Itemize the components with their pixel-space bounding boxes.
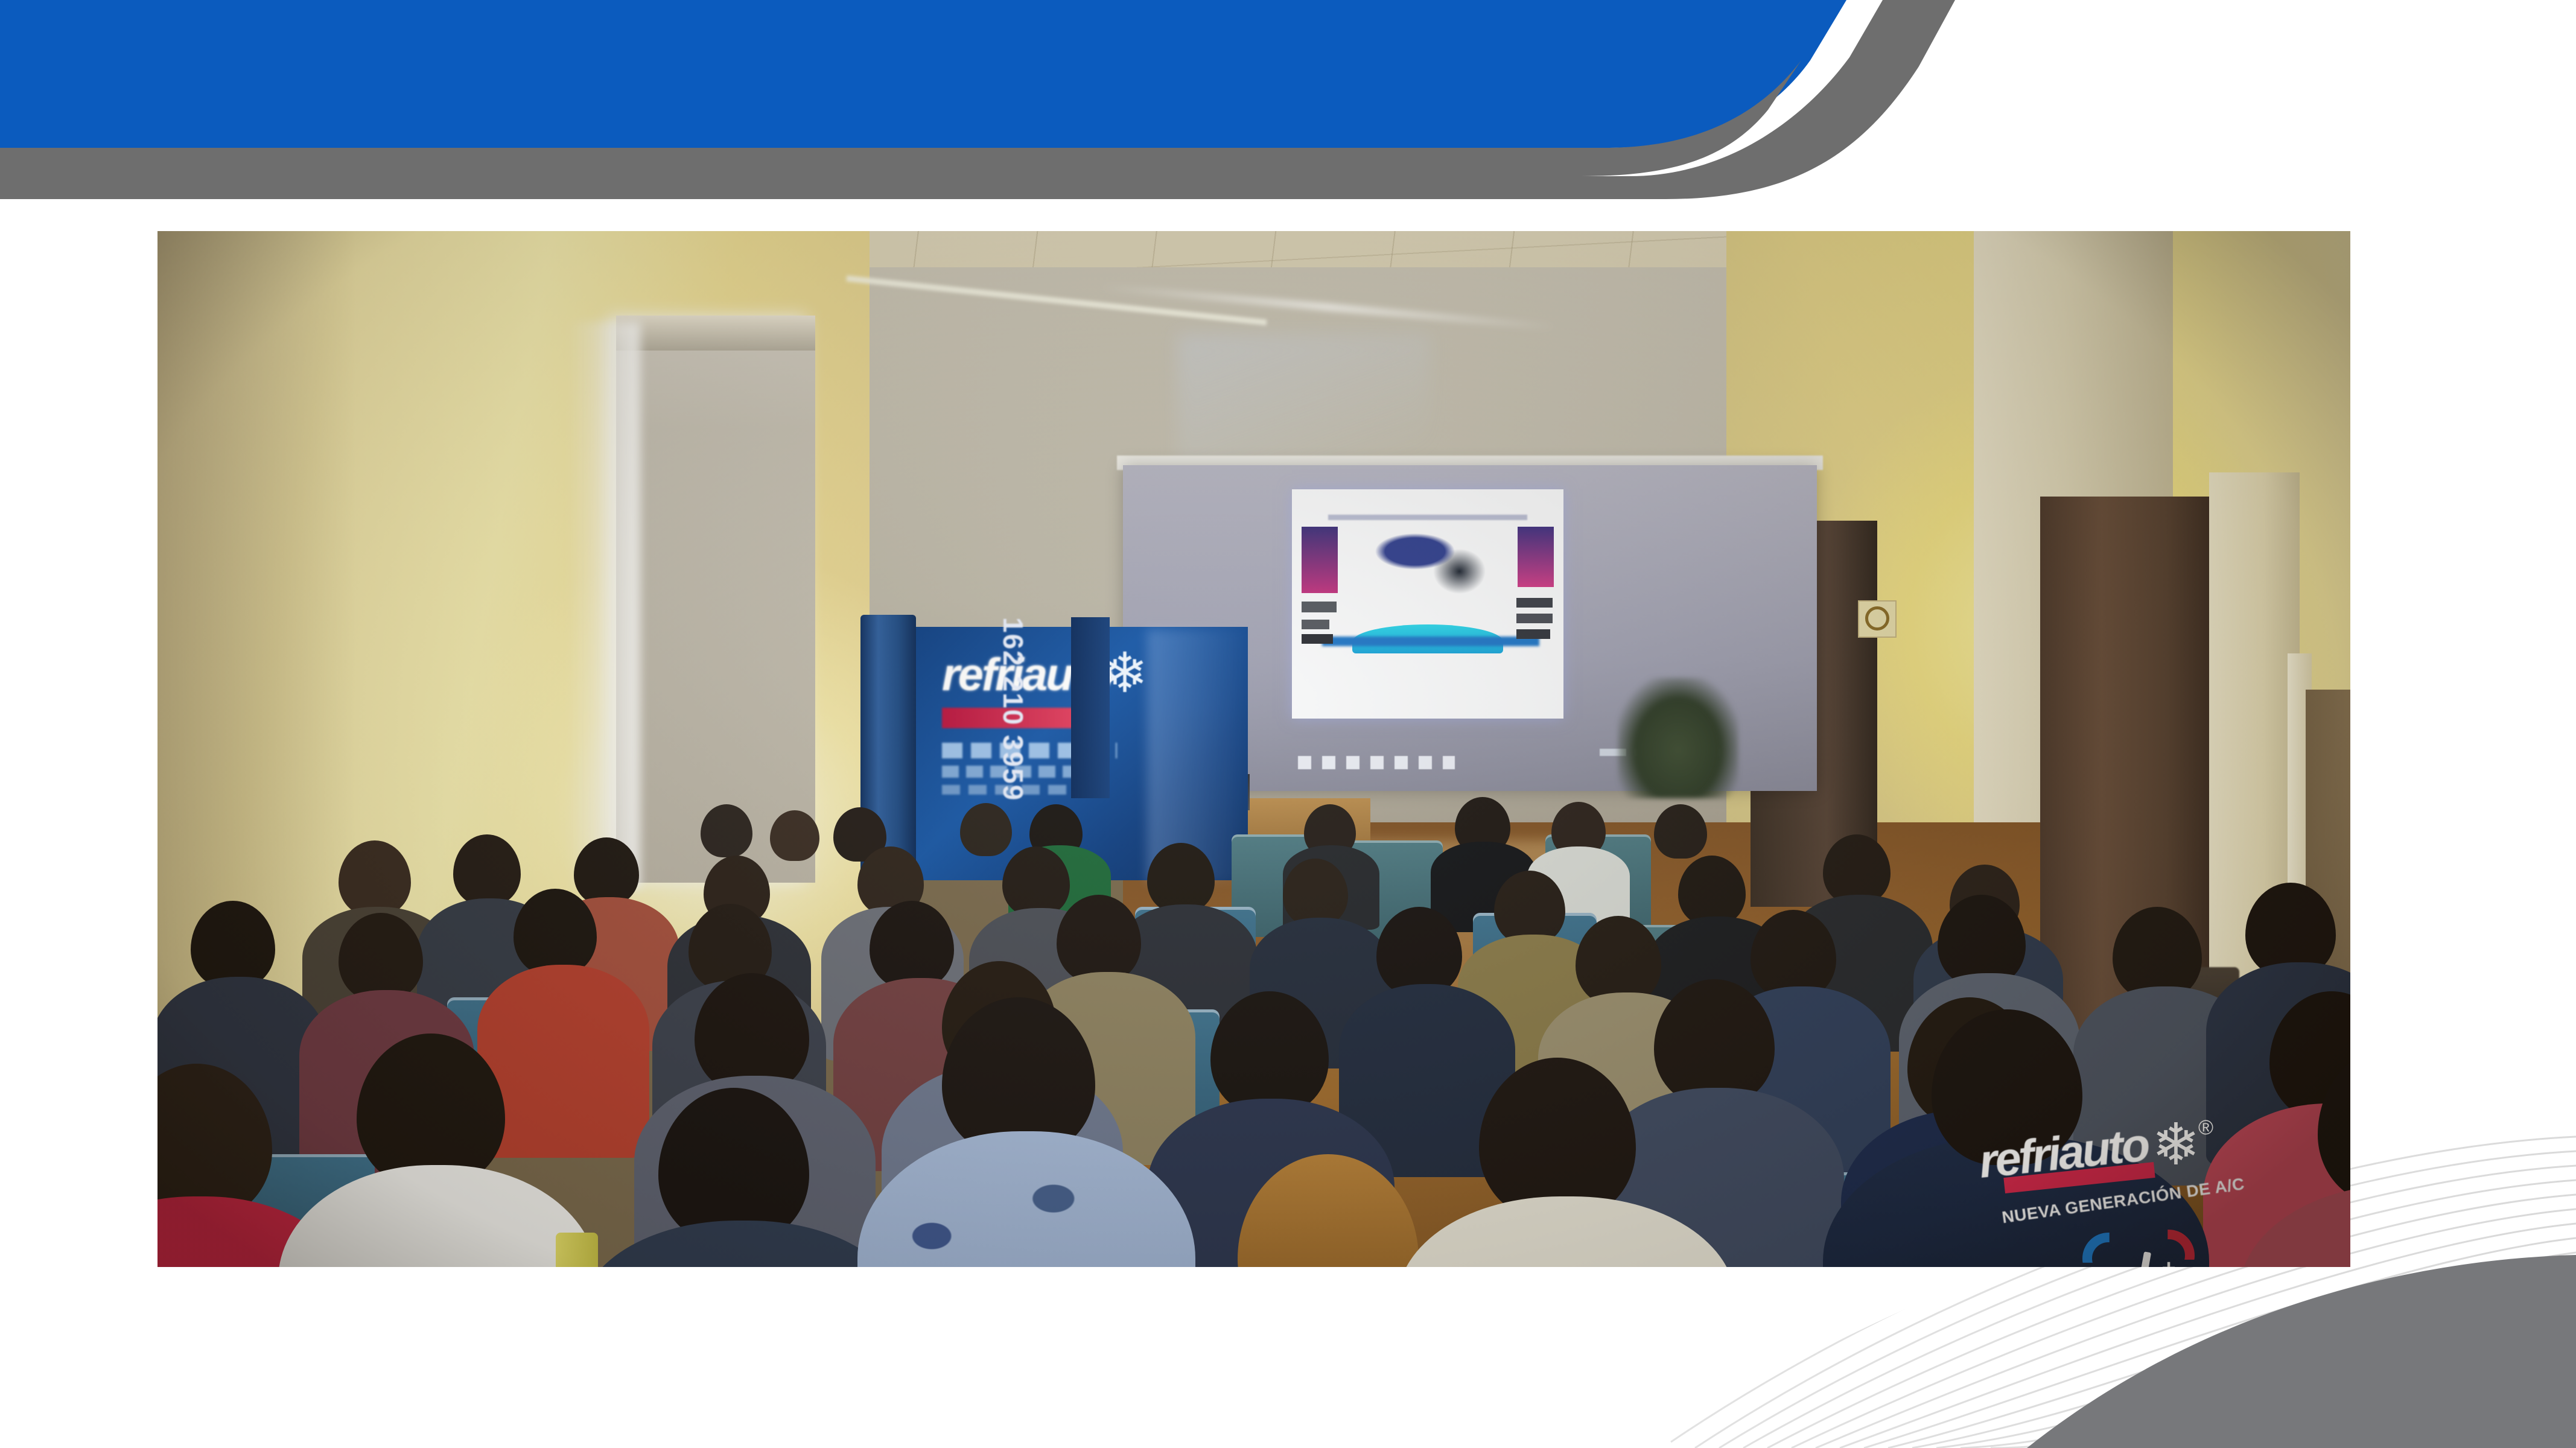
- window-light-glow: [568, 322, 640, 889]
- water-bottle: [556, 1233, 598, 1267]
- attendee-head: [1654, 804, 1707, 859]
- projected-slide-title-line: [1328, 515, 1527, 520]
- rollup-banner-phone: 162 210 3959: [994, 617, 1032, 798]
- presentation-slide: NO FUMAR refriauto ❄ 162 210 3959: [0, 0, 2576, 1448]
- projected-slide-left-strip: [1302, 527, 1338, 593]
- attendee-head: [870, 901, 954, 989]
- top-banner-blue-shape: [0, 0, 1846, 148]
- projected-slide-text-bar: [1302, 602, 1337, 612]
- rollup-banner-phone-strip: [1071, 617, 1110, 798]
- projected-slide-right-strip: [1518, 527, 1554, 587]
- attendee-head: [770, 810, 819, 861]
- projected-slide-text-bar: [1516, 598, 1553, 608]
- projected-slide-vehicle-graphic: [1360, 524, 1498, 615]
- bottom-gray-arc: [2027, 1255, 2576, 1448]
- window-blind: [616, 316, 815, 883]
- projected-slide-text-bar: [1302, 634, 1333, 644]
- projected-slide-text-bar: [1516, 629, 1550, 639]
- top-banner-base-bar: [0, 60, 1801, 176]
- top-banner-decoration: [0, 0, 2576, 199]
- screen-caption-blocks: [1298, 756, 1455, 769]
- training-seminar-photograph: NO FUMAR refriauto ❄ 162 210 3959: [157, 231, 2350, 1267]
- attendee-head: [701, 804, 752, 857]
- wall-placard-icon: [1865, 606, 1889, 630]
- window-blind-valance: [616, 316, 815, 351]
- potted-plant: [1618, 678, 1738, 798]
- ac-gauge-minus: -: [2116, 1257, 2134, 1267]
- projected-slide-text-bar: [1516, 614, 1553, 623]
- registered-mark: ®: [2198, 1116, 2222, 1140]
- ac-gauge-plus: +: [2160, 1256, 2178, 1267]
- top-banner-shadow-shape: [0, 0, 1955, 199]
- attendee-head: [960, 803, 1012, 856]
- projected-slide-text-bar: [1302, 620, 1329, 629]
- snowflake-icon: ❄: [2149, 1118, 2203, 1172]
- projected-slide-streak: [1322, 637, 1539, 646]
